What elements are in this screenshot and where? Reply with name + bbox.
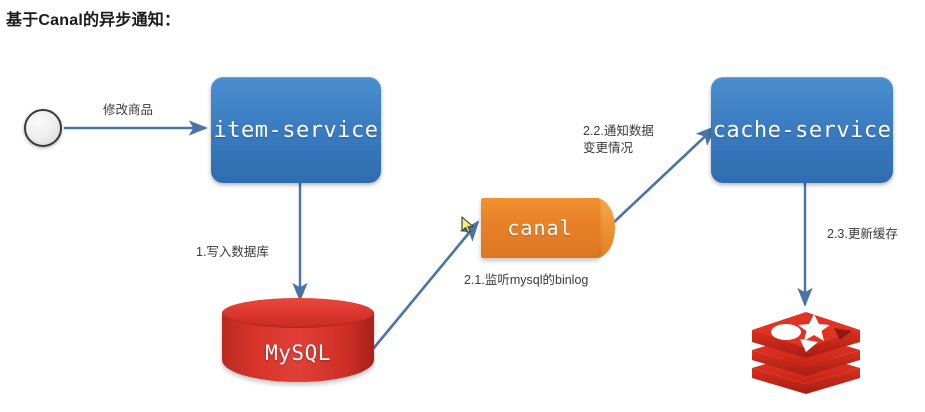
node-cache-service-label: cache-service (713, 118, 892, 143)
node-item-service-label: item-service (214, 118, 379, 143)
node-canal[interactable]: canal (481, 198, 615, 258)
redis-icon[interactable] (748, 306, 864, 394)
node-mysql-label: MySQL (222, 324, 374, 382)
node-canal-label: canal (481, 198, 599, 258)
page-title: 基于Canal的异步通知： (6, 6, 180, 30)
edge-label-update-cache: 2.3.更新缓存 (827, 226, 898, 243)
node-item-service[interactable]: item-service (211, 77, 381, 183)
diagram-canvas: 基于Canal的异步通知： item-s (0, 0, 925, 412)
arrow-mysql-to-canal (368, 222, 478, 355)
edge-label-modify-product: 修改商品 (103, 102, 153, 119)
mouse-pointer-icon (461, 216, 475, 234)
edge-label-notify-data-change: 2.2.通知数据 变更情况 (583, 123, 654, 157)
node-mysql[interactable]: MySQL (222, 298, 374, 392)
edge-label-write-database: 1.写入数据库 (196, 244, 269, 261)
node-cache-service[interactable]: cache-service (711, 77, 893, 183)
start-node[interactable] (24, 109, 62, 147)
edge-label-listen-binlog: 2.1.监听mysql的binlog (464, 272, 588, 289)
